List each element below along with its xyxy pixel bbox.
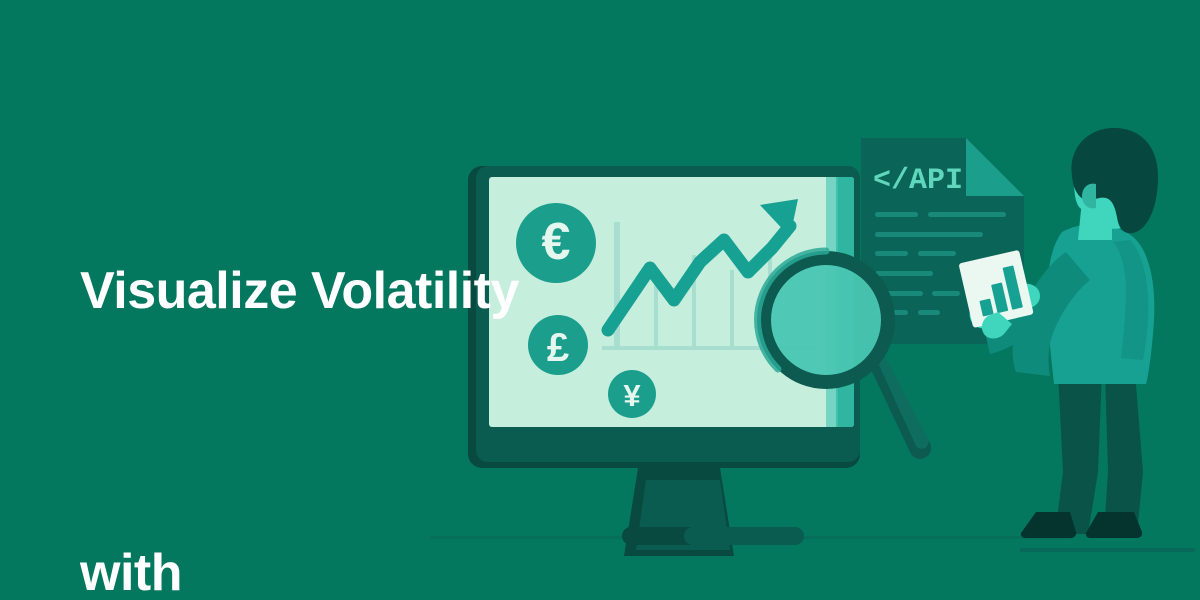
document-fold-corner-icon [966,138,1024,196]
banner-root: Visualize Volatility with Real Data [0,0,1200,600]
person-leg-front [1055,372,1102,534]
person-shoe-back [1086,512,1142,538]
magnifier-handle-highlight [873,347,929,449]
headline-line-2: with [80,526,720,600]
person-shoe-front [1021,512,1076,538]
person-leg-back [1104,372,1143,534]
headline-line-1: Visualize Volatility [80,244,720,338]
document-title: </API [873,164,963,198]
page-title: Visualize Volatility with Real Data [80,56,720,600]
ground-line-right [1020,548,1195,552]
